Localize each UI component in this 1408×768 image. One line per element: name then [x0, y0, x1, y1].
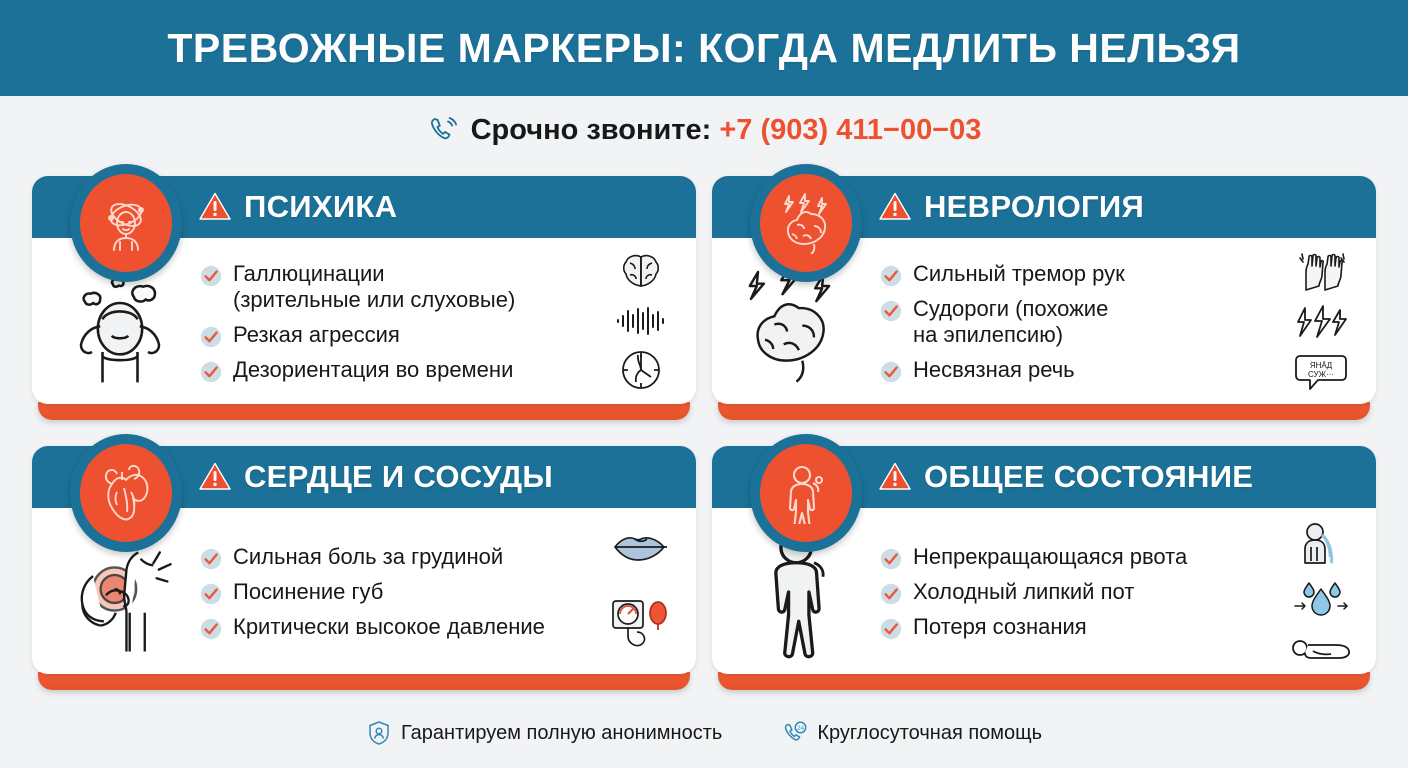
card-title: ПСИХИКА	[244, 189, 397, 225]
vomiting-person-icon	[1297, 523, 1345, 565]
check-circle-icon	[880, 548, 902, 570]
list-item-label: Потеря сознания	[913, 614, 1087, 640]
footer-item-anonymity: Гарантируем полную анонимность	[366, 720, 722, 746]
list-item: Судороги (похожие на эпилепсию)	[880, 296, 1272, 348]
right-icon-column: ЯНÄД СУЖ···	[1278, 246, 1364, 398]
list-item-label: Критически высокое давление	[233, 614, 545, 640]
list-item: Сильная боль за грудиной	[200, 544, 592, 570]
card-title: ОБЩЕЕ СОСТОЯНИЕ	[924, 459, 1253, 495]
svg-text:СУЖ···: СУЖ···	[1308, 370, 1334, 379]
list-item: Несвязная речь	[880, 357, 1272, 383]
check-circle-icon	[200, 361, 222, 383]
list-item: Критически высокое давление	[200, 614, 592, 640]
list-item: Сильный тремор рук	[880, 261, 1272, 287]
page-title: ТРЕВОЖНЫЕ МАРКЕРЫ: КОГДА МЕДЛИТЬ НЕЛЬЗЯ	[167, 25, 1240, 72]
card-bottom-accent-bar	[718, 672, 1370, 690]
check-circle-icon	[880, 583, 902, 605]
phone-24h-icon: 24	[782, 720, 808, 746]
list-item-label: Непрекращающаяся рвота	[913, 544, 1187, 570]
list-item: Непрекращающаяся рвота	[880, 544, 1272, 570]
list-item-label: Резкая агрессия	[233, 322, 400, 348]
check-circle-icon	[200, 618, 222, 640]
check-circle-icon	[880, 265, 902, 287]
svg-text:24: 24	[797, 725, 805, 732]
card-badge	[70, 434, 182, 552]
warning-triangle-icon	[198, 191, 232, 223]
bullet-list: Непрекращающаяся рвота Холодный липкий п…	[880, 508, 1272, 674]
list-item: Дезориентация во времени	[200, 357, 592, 383]
list-item-label: Посинение губ	[233, 579, 383, 605]
shield-person-icon	[366, 720, 392, 746]
svg-text:ЯНÄД: ЯНÄД	[1310, 361, 1333, 370]
sound-wave-icon	[615, 306, 667, 336]
card-neurology: НЕВРОЛОГИЯ	[712, 176, 1376, 420]
check-circle-icon	[880, 618, 902, 640]
warning-triangle-icon	[878, 191, 912, 223]
list-item-label: Холодный липкий пот	[913, 579, 1134, 605]
bullet-list: Сильная боль за грудиной Посинение губ	[200, 508, 592, 674]
heart-anatomy-icon	[80, 444, 172, 542]
card-badge	[750, 434, 862, 552]
list-item: Резкая агрессия	[200, 322, 592, 348]
warning-triangle-icon	[198, 461, 232, 493]
card-title: НЕВРОЛОГИЯ	[924, 189, 1144, 225]
bullet-list: Сильный тремор рук Судороги (похожие на …	[880, 238, 1272, 404]
brain-top-icon	[618, 253, 664, 293]
card-bottom-accent-bar	[718, 402, 1370, 420]
right-icon-column	[1278, 516, 1364, 668]
list-item-label: Сильный тремор рук	[913, 261, 1125, 287]
warning-triangle-icon	[878, 461, 912, 493]
check-circle-icon	[200, 583, 222, 605]
list-item: Потеря сознания	[880, 614, 1272, 640]
blood-pressure-monitor-icon	[609, 597, 673, 651]
card-bottom-accent-bar	[38, 402, 690, 420]
sweat-drops-icon	[1293, 579, 1349, 621]
footer-badges: Гарантируем полную анонимность 24 Кругло…	[0, 720, 1408, 746]
phone-label: Срочно звоните:	[471, 114, 712, 146]
cards-grid: ПСИХИКА	[32, 176, 1376, 690]
phone-number[interactable]: +7 (903) 411−00−03	[719, 114, 981, 146]
check-circle-icon	[880, 300, 902, 322]
list-item-label: Галлюцинации (зрительные или слуховые)	[233, 261, 515, 313]
card-bottom-accent-bar	[38, 672, 690, 690]
card-badge	[70, 164, 182, 282]
list-item-label: Сильная боль за грудиной	[233, 544, 503, 570]
list-item: Холодный липкий пот	[880, 579, 1272, 605]
list-item: Посинение губ	[200, 579, 592, 605]
list-item-label: Судороги (похожие на эпилепсию)	[913, 296, 1108, 348]
check-circle-icon	[200, 326, 222, 348]
clock-broken-icon	[620, 349, 662, 391]
phone-callout: Срочно звоните: +7 (903) 411−00−03	[0, 96, 1408, 164]
card-general: ОБЩЕЕ СОСТОЯНИЕ Неп	[712, 446, 1376, 690]
phone-ring-icon	[427, 114, 459, 146]
right-icon-column	[598, 516, 684, 668]
check-circle-icon	[200, 265, 222, 287]
list-item-label: Дезориентация во времени	[233, 357, 513, 383]
brain-lightning-icon	[760, 174, 852, 272]
check-circle-icon	[200, 548, 222, 570]
footer-item-24h: 24 Круглосуточная помощь	[782, 720, 1042, 746]
right-icon-column	[598, 246, 684, 398]
garbled-speech-bubble-icon: ЯНÄД СУЖ···	[1294, 352, 1348, 392]
bullet-list: Галлюцинации (зрительные или слуховые) Р…	[200, 238, 592, 404]
card-badge	[750, 164, 862, 282]
list-item-label: Несвязная речь	[913, 357, 1075, 383]
blue-lips-icon	[612, 533, 670, 563]
footer-label: Гарантируем полную анонимность	[401, 722, 722, 745]
phone-label-group: Срочно звоните: +7 (903) 411−00−03	[471, 114, 982, 147]
confused-head-icon	[80, 174, 172, 272]
lightning-bolts-icon	[1295, 305, 1347, 339]
footer-label: Круглосуточная помощь	[817, 722, 1042, 745]
person-distress-icon	[760, 444, 852, 542]
unconscious-person-icon	[1291, 635, 1351, 661]
card-title: СЕРДЦЕ И СОСУДЫ	[244, 459, 553, 495]
card-heart: СЕРДЦЕ И СОСУДЫ	[32, 446, 696, 690]
check-circle-icon	[880, 361, 902, 383]
card-psyche: ПСИХИКА	[32, 176, 696, 420]
top-banner: ТРЕВОЖНЫЕ МАРКЕРЫ: КОГДА МЕДЛИТЬ НЕЛЬЗЯ	[0, 0, 1408, 96]
list-item: Галлюцинации (зрительные или слуховые)	[200, 261, 592, 313]
shaking-hands-icon	[1295, 252, 1347, 292]
